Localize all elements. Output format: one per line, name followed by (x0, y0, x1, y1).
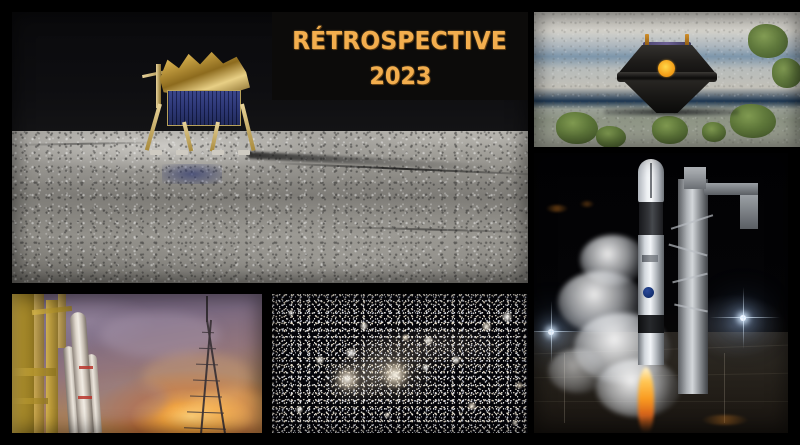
launch-gantry-column (46, 300, 58, 433)
sunburst-emblem-icon (658, 60, 675, 77)
rocket-on-launchpad-photo (12, 294, 262, 433)
tower-spire (206, 296, 208, 322)
bright-star (384, 412, 390, 418)
launch-tower-strongback (678, 179, 708, 394)
page-title-year: 2023 (369, 64, 431, 88)
galaxy-cluster-photo (272, 294, 528, 433)
engine-exhaust-flame (638, 367, 654, 433)
tower-access-arm (704, 183, 758, 195)
night-rocket-launch-photo (534, 153, 788, 433)
launch-gantry-column (34, 294, 44, 433)
bright-star (346, 348, 356, 358)
nasa-logo-icon (643, 287, 654, 298)
desert-shrub (702, 122, 726, 142)
desert-shrub (652, 116, 688, 144)
bright-star (402, 334, 409, 341)
lander-leg (145, 103, 162, 150)
bright-star (512, 420, 518, 426)
sample-return-capsule-photo (534, 12, 800, 147)
lander-foot-pad (150, 150, 162, 155)
desert-shrub (596, 126, 626, 147)
bright-star (482, 322, 491, 331)
capsule-trunk (639, 202, 663, 236)
launch-gantry-column (12, 294, 34, 433)
launch-gantry-beam (58, 294, 66, 348)
desert-shrub (748, 24, 788, 58)
central-galaxy (380, 360, 410, 390)
tower-head-module (684, 167, 706, 189)
floodlight-flare (710, 317, 780, 318)
floodlight-flare (551, 301, 552, 363)
bright-star (468, 402, 476, 410)
bright-star (422, 364, 429, 371)
lander-foot-pad (238, 150, 250, 155)
crew-capsule-nosecone (638, 159, 664, 203)
lander-solar-panel (167, 90, 241, 126)
rocket-interstage (638, 315, 664, 333)
lunar-lander-craft (140, 42, 270, 177)
collage-title-block: RÉTROSPECTIVE 2023 (272, 12, 528, 100)
tower-rung (190, 395, 222, 397)
capsule-pin (645, 34, 649, 46)
lander-mast (156, 64, 161, 108)
launch-vehicle (69, 312, 99, 433)
lander-leg (182, 122, 193, 152)
tower-rung (202, 332, 214, 334)
photo-collage: RÉTROSPECTIVE 2023 (0, 0, 800, 445)
distant-ground-light (580, 201, 594, 207)
tower-upper-platform (740, 195, 758, 229)
lander-foot-pad (176, 150, 188, 155)
rocket-marking (79, 366, 93, 369)
bright-star (360, 322, 368, 330)
tower-rung (193, 380, 220, 382)
sample-return-capsule (617, 45, 717, 113)
bright-star (502, 312, 512, 322)
tower-rung (199, 348, 216, 350)
bright-star (288, 310, 294, 316)
page-title: RÉTROSPECTIVE (293, 28, 508, 53)
bright-star (296, 406, 303, 413)
tower-rung (187, 411, 224, 414)
lightning-protection-tower (184, 306, 238, 433)
tower-rung (184, 427, 226, 430)
bright-star (452, 356, 460, 364)
distant-ground-light (546, 205, 568, 212)
bright-star (516, 382, 523, 389)
capsule-pin (685, 34, 689, 46)
lander-leg (240, 104, 255, 152)
desert-shrub (556, 112, 598, 144)
central-galaxy (334, 366, 360, 392)
capsule-heat-shield (623, 80, 711, 113)
floodlight-flare (534, 331, 584, 332)
rocket-wordmark (642, 255, 658, 262)
pad-seam (724, 353, 725, 423)
exhaust-plume (548, 349, 608, 393)
bright-star (424, 336, 433, 345)
launch-gantry-beam (12, 368, 56, 376)
lander-foot-pad (212, 150, 224, 155)
bright-star (316, 356, 324, 364)
rocket-marking (78, 396, 92, 399)
desert-shrub (772, 58, 800, 88)
launch-gantry-beam (12, 398, 48, 404)
pad-ember-glow (702, 415, 748, 425)
floodlight-flare (743, 287, 744, 349)
launch-vehicle-stack (630, 159, 676, 409)
lander-leg (210, 122, 220, 152)
tower-leg (199, 320, 211, 433)
